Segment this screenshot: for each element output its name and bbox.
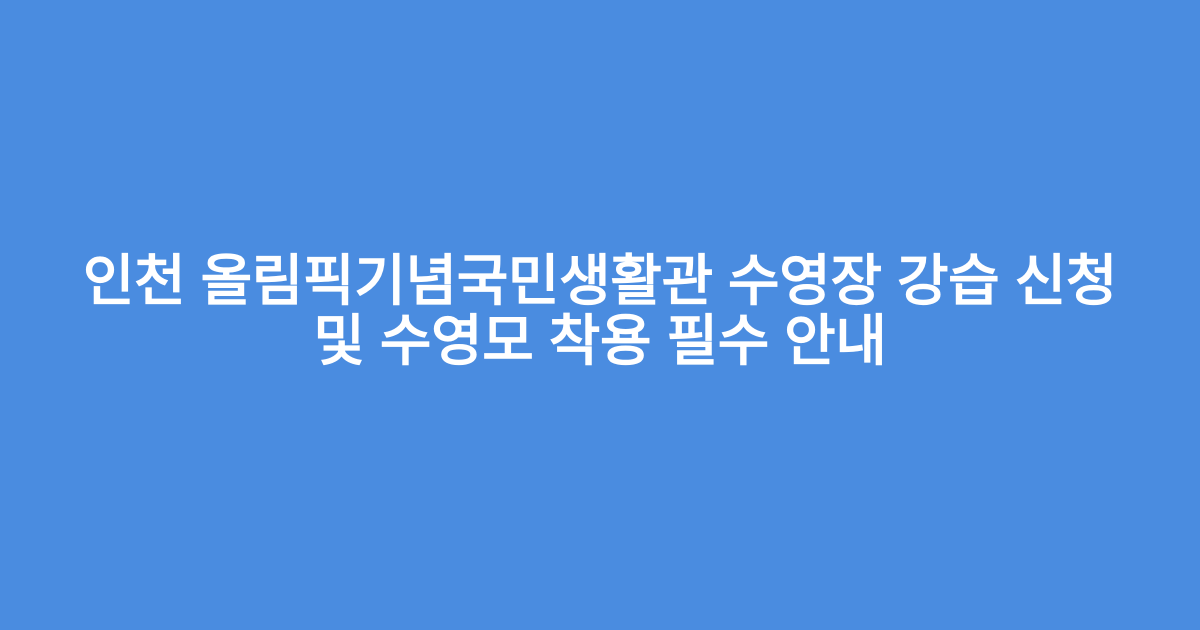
page-title: 인천 올림픽기념국민생활관 수영장 강습 신청 및 수영모 착용 필수 안내 [74, 251, 1126, 371]
headline-block: 인천 올림픽기념국민생활관 수영장 강습 신청 및 수영모 착용 필수 안내 [50, 251, 1150, 371]
og-image-card: 인천 올림픽기념국민생활관 수영장 강습 신청 및 수영모 착용 필수 안내 [0, 0, 1200, 630]
